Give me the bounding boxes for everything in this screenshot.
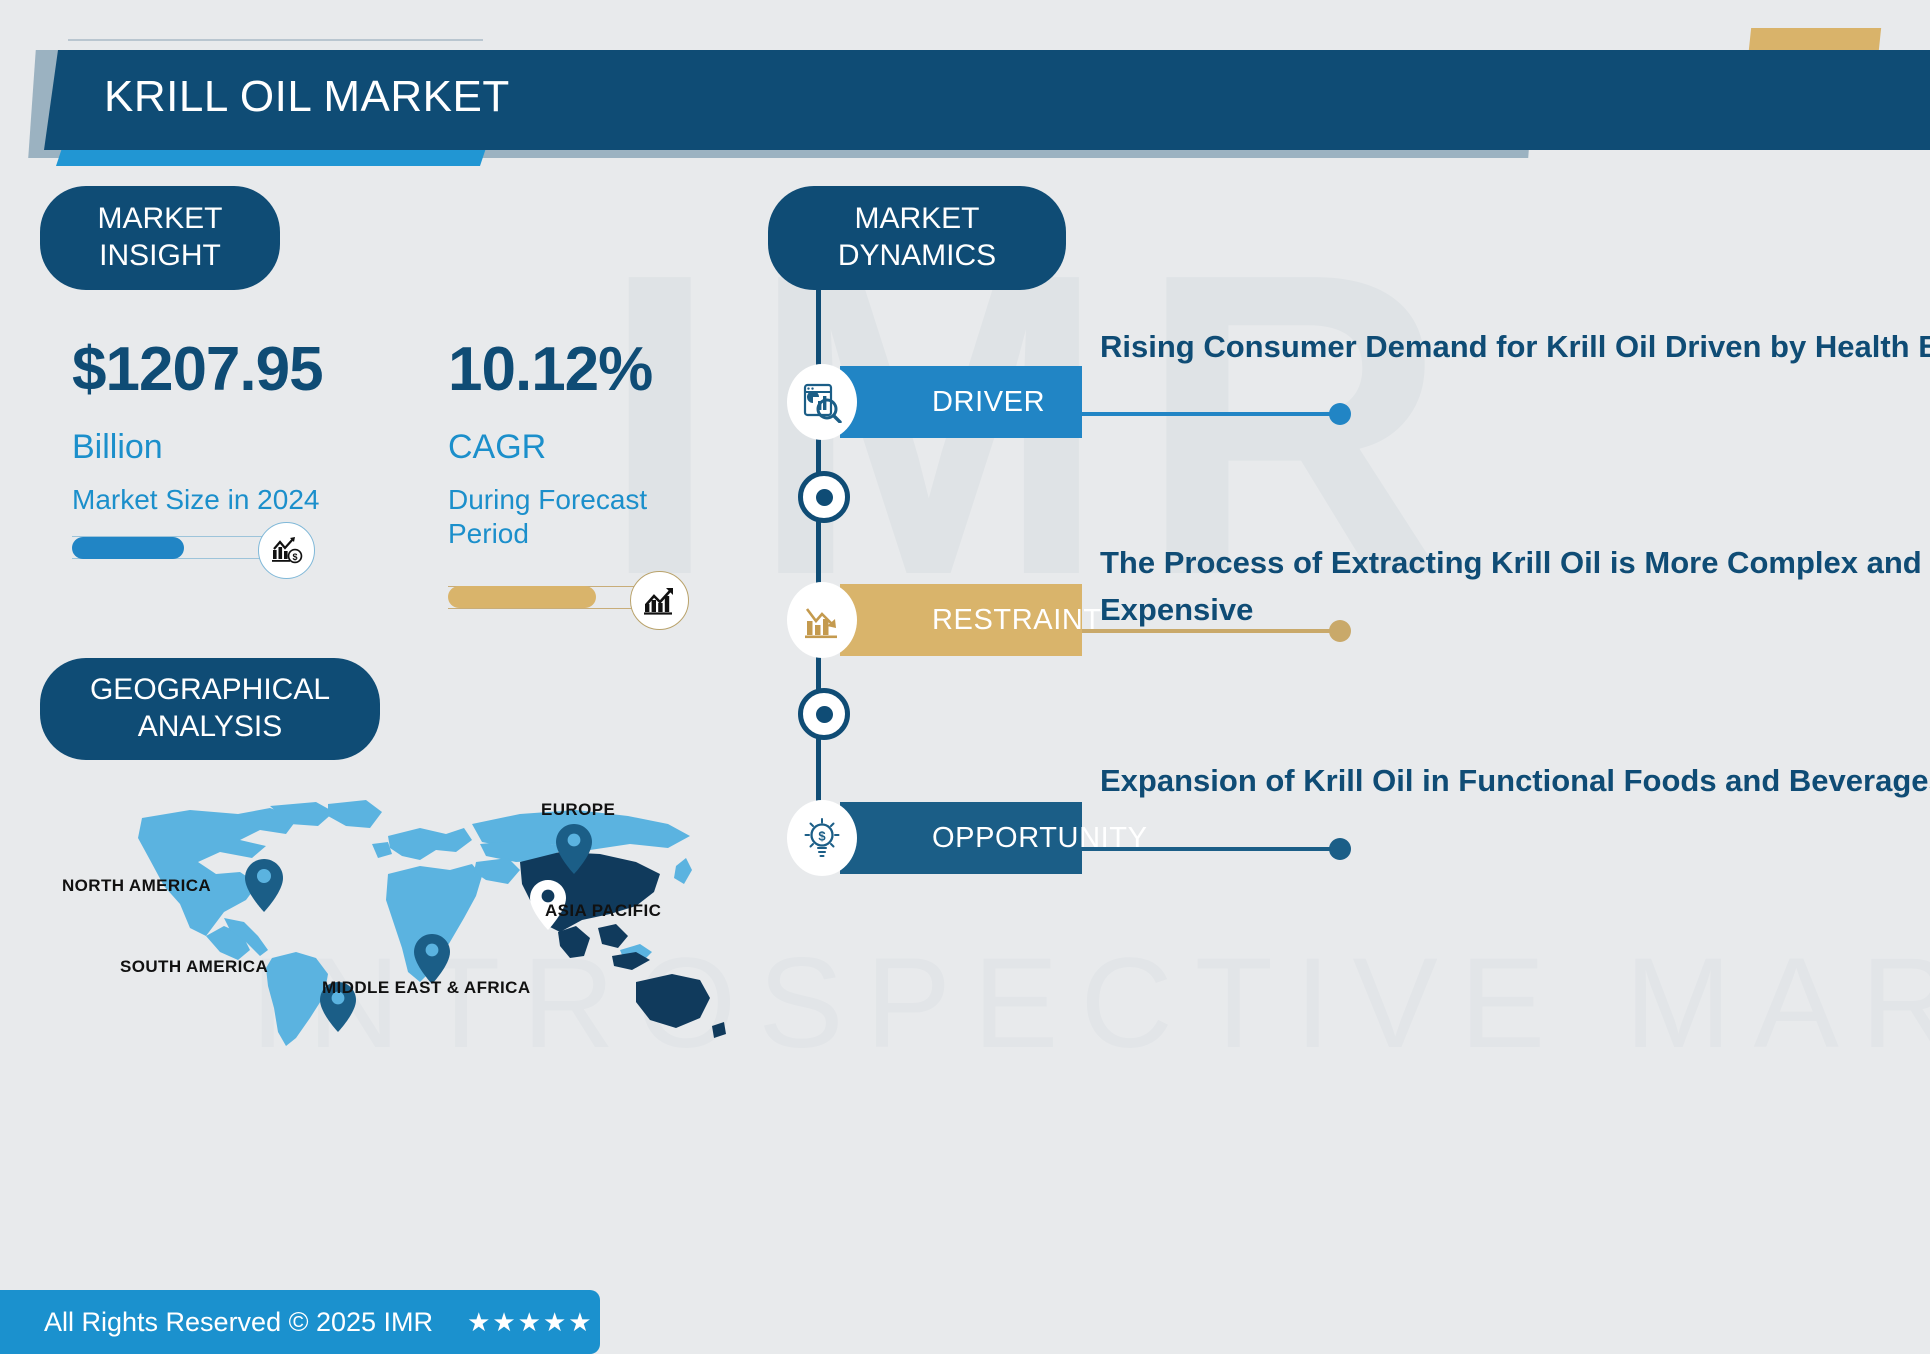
opportunity-description: Expansion of Krill Oil in Functional Foo… — [1100, 757, 1930, 804]
map-label-south-america: SOUTH AMERICA — [120, 957, 268, 977]
market-insight-pill-line1: MARKET — [97, 201, 222, 238]
growth-arrow-icon — [630, 571, 689, 630]
geo-pill-line2: ANALYSIS — [90, 709, 330, 746]
cagr-progress-bar — [448, 586, 596, 608]
market-dynamics-pill: MARKET DYNAMICS — [768, 186, 1066, 290]
driver-label: DRIVER — [932, 386, 1045, 419]
declining-chart-icon — [787, 582, 857, 658]
footer-bar: All Rights Reserved © 2025 IMR ★★★★★ — [0, 1290, 600, 1354]
header-bar: KRILL OIL MARKET — [44, 50, 1930, 150]
svg-text:$: $ — [292, 552, 297, 562]
market-insight-pill-line2: INSIGHT — [97, 238, 222, 275]
footer-copyright: All Rights Reserved © 2025 IMR — [44, 1307, 433, 1338]
world-map — [120, 800, 740, 1050]
geo-pill-line1: GEOGRAPHICAL — [90, 672, 330, 709]
timeline-node-1 — [798, 471, 850, 523]
geographical-analysis-pill: GEOGRAPHICAL ANALYSIS — [40, 658, 380, 760]
map-label-middle-east-africa: MIDDLE EAST & AFRICA — [322, 978, 531, 998]
cagr-rail-bottom — [448, 608, 638, 609]
timeline-node-2 — [798, 688, 850, 740]
restraint-description: The Process of Extracting Krill Oil is M… — [1100, 539, 1930, 633]
market-size-progress-bar — [72, 537, 184, 559]
page-title: KRILL OIL MARKET — [104, 72, 510, 122]
restraint-label: RESTRAINT — [932, 604, 1102, 637]
market-insight-pill: MARKET INSIGHT — [40, 186, 280, 290]
analysis-magnifier-icon — [787, 364, 857, 440]
restraint-badge[interactable]: RESTRAINT — [840, 584, 1082, 656]
cagr-value: 10.12% — [448, 334, 652, 405]
dynamics-pill-line1: MARKET — [838, 201, 996, 238]
lightbulb-dollar-icon: $ — [787, 800, 857, 876]
opportunity-label: OPPORTUNITY — [932, 822, 1148, 855]
dynamics-pill-line2: DYNAMICS — [838, 238, 996, 275]
map-label-asia-pacific: ASIA PACIFIC — [545, 901, 661, 921]
map-label-europe: EUROPE — [541, 800, 615, 820]
cagr-unit: CAGR — [448, 428, 546, 467]
opportunity-connector-dot — [1329, 838, 1351, 860]
market-size-value: $1207.95 — [72, 334, 323, 405]
driver-connector-dot — [1329, 403, 1351, 425]
svg-text:$: $ — [818, 829, 826, 844]
market-size-unit: Billion — [72, 428, 163, 467]
header-accent-stripe — [56, 148, 486, 166]
driver-description: Rising Consumer Demand for Krill Oil Dri… — [1100, 323, 1930, 370]
header-hairline — [68, 39, 483, 41]
driver-badge[interactable]: DRIVER — [840, 366, 1082, 438]
driver-connector-line — [1082, 412, 1344, 416]
map-label-north-america: NORTH AMERICA — [62, 876, 211, 896]
infographic-canvas: IMR INTROSPECTIVE MARKET RESEARCH KRILL … — [0, 0, 1930, 1354]
opportunity-badge[interactable]: OPPORTUNITY — [840, 802, 1082, 874]
cagr-subtitle: During Forecast Period — [448, 483, 698, 551]
header-gold-accent — [1749, 28, 1881, 50]
footer-star-rating: ★★★★★ — [467, 1307, 594, 1338]
bar-chart-dollar-icon: $ — [258, 522, 315, 579]
market-size-subtitle: Market Size in 2024 — [72, 483, 342, 517]
